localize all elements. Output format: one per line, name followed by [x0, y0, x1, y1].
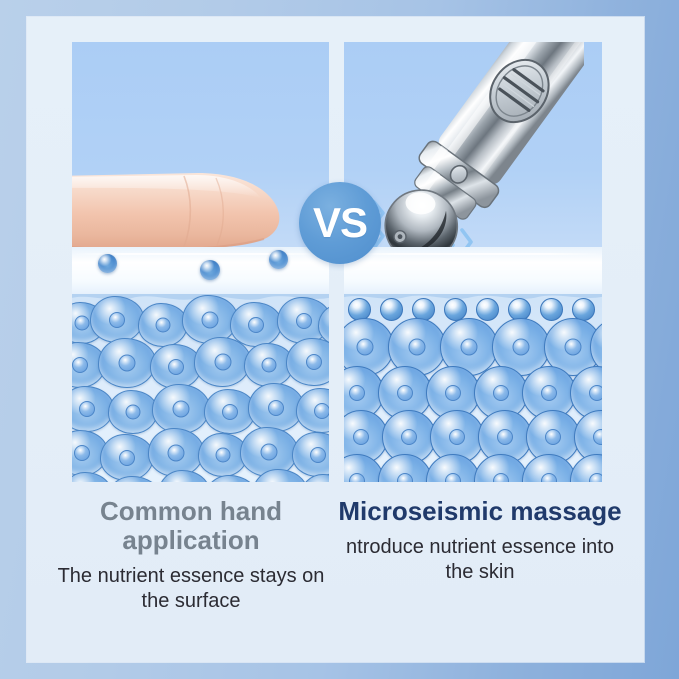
vs-label: VS	[313, 202, 367, 244]
panel-right-dermis	[344, 294, 602, 482]
caption-right-title: Microseismic massage	[330, 497, 630, 526]
caption-right: Microseismic massage ntroduce nutrient e…	[330, 497, 630, 585]
caption-left-title: Common hand application	[41, 497, 341, 555]
caption-right-subtitle: ntroduce nutrient essence into the skin	[330, 535, 630, 585]
caption-left-subtitle: The nutrient essence stays on the surfac…	[41, 564, 341, 614]
skin-cell	[194, 337, 251, 387]
skin-cell	[100, 434, 154, 481]
fingertip-illustration	[72, 160, 306, 260]
absorbed-droplet	[380, 298, 403, 321]
panel-microseismic-massage	[344, 42, 602, 482]
skin-cell	[292, 432, 329, 477]
surface-droplet	[269, 250, 288, 269]
surface-droplet	[98, 254, 117, 273]
skin-cell	[570, 454, 602, 482]
skin-cell	[152, 384, 210, 434]
skin-cell	[138, 303, 188, 347]
panel-common-hand-application	[72, 42, 329, 482]
skin-cell	[90, 296, 144, 343]
skin-cell	[98, 338, 156, 388]
skin-cell	[108, 390, 158, 434]
captions-row: Common hand application The nutrient ess…	[27, 497, 644, 647]
vs-badge: VS	[299, 182, 381, 264]
caption-left: Common hand application The nutrient ess…	[41, 497, 341, 614]
infographic-stage: VS Common hand application The nutrient …	[0, 0, 679, 679]
skin-cell	[296, 388, 329, 433]
absorbed-droplet	[540, 298, 563, 321]
surface-droplet	[200, 260, 220, 280]
panel-left-dermis	[72, 294, 329, 482]
skin-cell	[204, 475, 258, 482]
absorbed-droplet	[476, 298, 499, 321]
skin-cell	[286, 338, 329, 386]
